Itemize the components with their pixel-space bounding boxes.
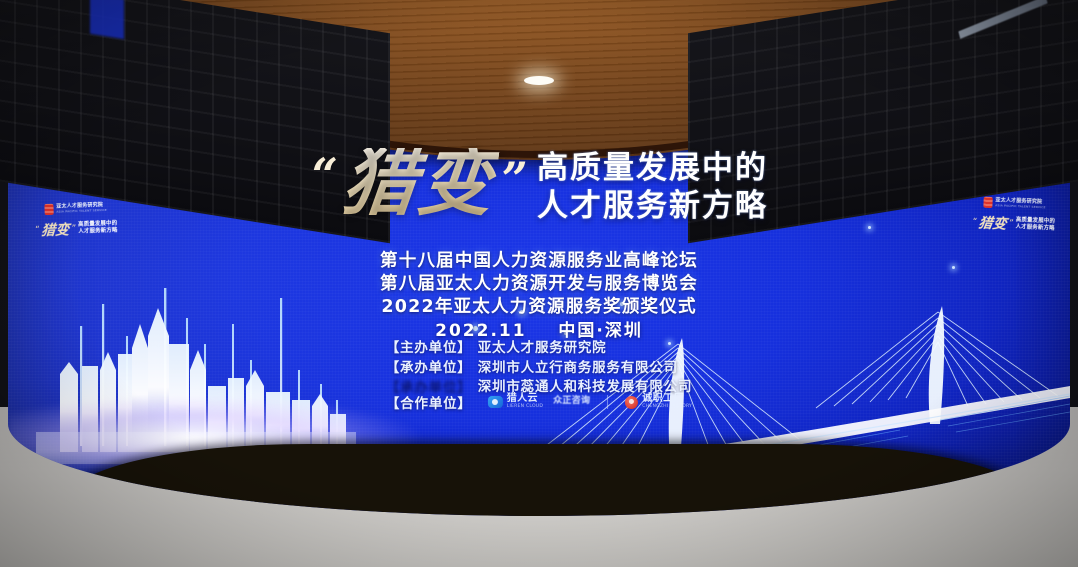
- truss-beam-highlight: [958, 0, 1047, 39]
- sparkle-dot: [868, 226, 871, 229]
- sparkle-dot: [668, 342, 671, 345]
- sparkle-dot: [620, 302, 624, 306]
- sparkle-dot: [520, 310, 524, 314]
- sparkle-dot: [952, 266, 955, 269]
- screenshot-root: “ 猎变 ” 高质量发展中的 人才服务新方略 第十八届中国人力资源服务业高峰论坛…: [0, 0, 1078, 567]
- ceiling-spotlight: [524, 76, 554, 85]
- sparkle-dot: [564, 332, 567, 335]
- led-wall-bottom-bezel: [68, 444, 1028, 516]
- truss-blue-light: [90, 0, 124, 39]
- sparkle-dot: [473, 326, 478, 331]
